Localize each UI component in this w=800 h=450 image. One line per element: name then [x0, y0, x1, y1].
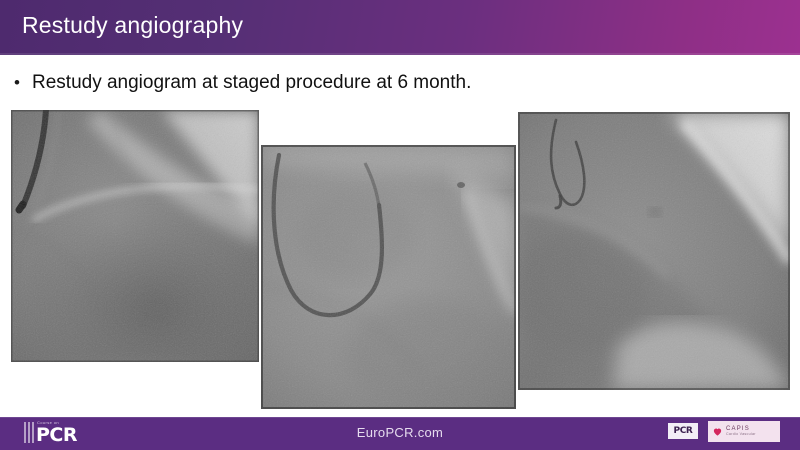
heart-icon [712, 426, 723, 437]
partner-subtitle: Cardio Vascular [726, 433, 756, 437]
angiogram-right [518, 112, 790, 390]
angiogram-middle [261, 145, 516, 409]
page-title: Restudy angiography [22, 12, 243, 39]
bullet-list: • Restudy angiogram at staged procedure … [14, 70, 774, 96]
pcr-badge-label: PCR [674, 426, 693, 436]
bullet-marker: • [14, 70, 32, 96]
logo-bars-icon [24, 422, 34, 443]
angiogram-right-graphic [518, 112, 790, 390]
bullet-item-text: Restudy angiogram at staged procedure at… [32, 70, 471, 96]
partner-badge-text: CAPIS Cardio Vascular [726, 426, 756, 437]
angiogram-left [11, 110, 259, 362]
partner-badge: CAPIS Cardio Vascular [708, 421, 780, 442]
partner-name: CAPIS [726, 426, 756, 432]
angiogram-left-graphic [11, 110, 259, 362]
pcr-badge: PCR [668, 423, 698, 439]
angiogram-middle-graphic [261, 145, 516, 409]
pcr-brand-logo: Course on PCR [24, 419, 102, 447]
slide-title-bar: Restudy angiography [0, 0, 800, 55]
logo-wordmark: PCR [36, 424, 77, 446]
